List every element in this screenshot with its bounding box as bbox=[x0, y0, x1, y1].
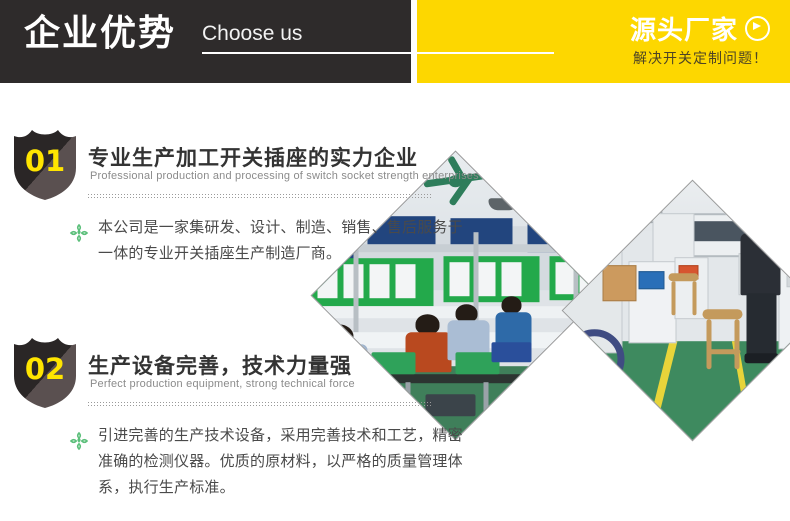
item-title-cn: 专业生产加工开关插座的实力企业 bbox=[88, 142, 418, 172]
photo-diamond-machine-workshop bbox=[562, 180, 790, 442]
shield-badge-icon: 01 bbox=[12, 126, 78, 202]
item-title-en: Perfect production equipment, strong tec… bbox=[90, 378, 355, 390]
divider-dotted bbox=[88, 194, 433, 195]
item-title-cn: 生产设备完善，技术力量强 bbox=[88, 350, 352, 380]
photo-machine-workshop bbox=[562, 180, 790, 442]
green-diamond-ornament-icon bbox=[66, 220, 92, 246]
shield-badge-icon: 02 bbox=[12, 334, 78, 410]
shield-number: 01 bbox=[12, 126, 78, 202]
item-body-text: 引进完善的生产技术设备，采用完善技术和工艺，精密准确的检测仪器。优质的原材料，以… bbox=[98, 422, 466, 500]
divider-dotted bbox=[88, 402, 433, 403]
divider-dotted-2 bbox=[88, 405, 433, 406]
advantages-banner: 企业优势 Choose us 源头厂家 解决开关定制问题！ bbox=[0, 0, 790, 521]
item-title-en: Professional production and processing o… bbox=[90, 170, 479, 182]
item-body-text: 本公司是一家集研发、设计、制造、销售、售后服务于一体的专业开关插座生产制造厂商。 bbox=[98, 214, 466, 266]
divider-dotted-2 bbox=[88, 197, 433, 198]
shield-number: 02 bbox=[12, 334, 78, 410]
green-diamond-ornament-icon bbox=[66, 428, 92, 454]
